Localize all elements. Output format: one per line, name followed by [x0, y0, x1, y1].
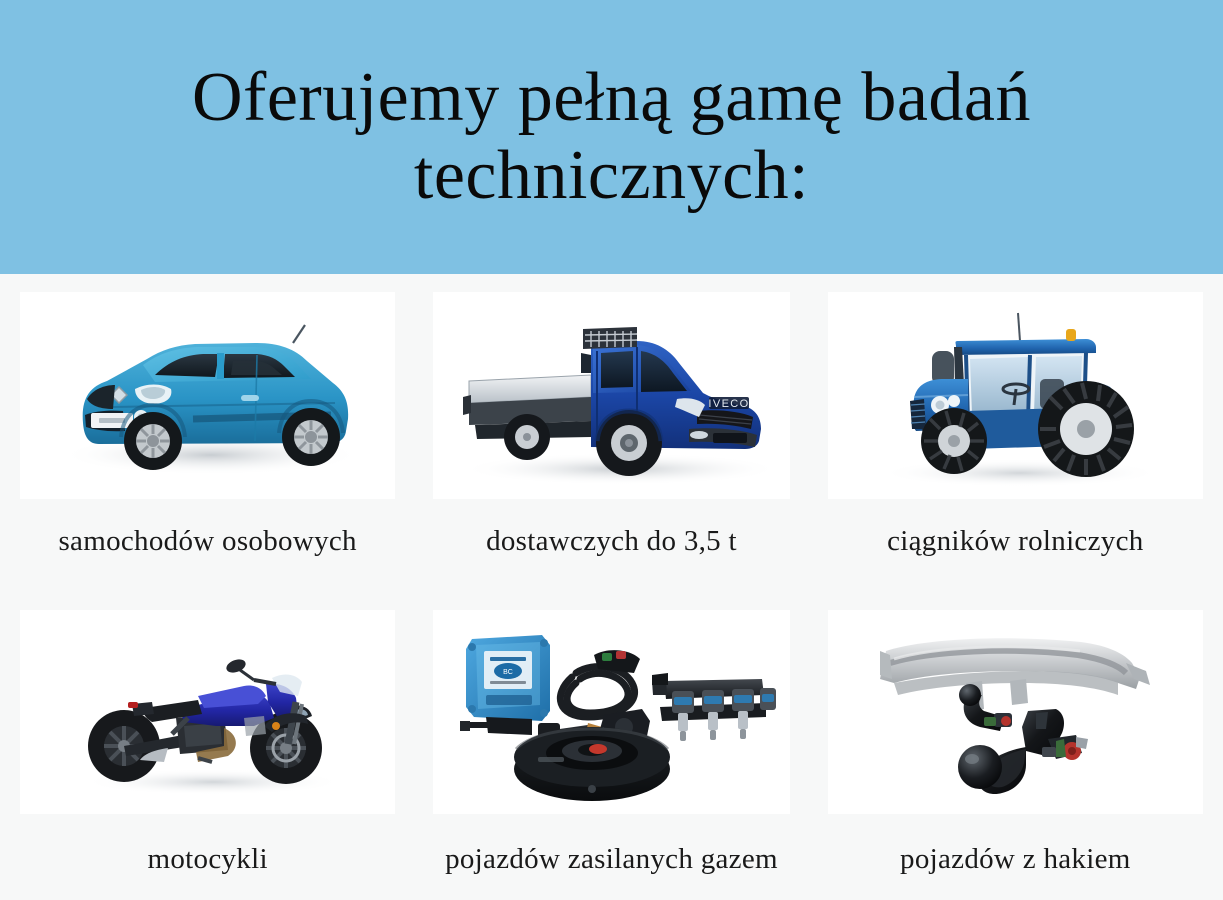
category-item-lpg-vehicles[interactable]: BC — [414, 587, 808, 900]
category-item-delivery-vans[interactable]: IVECO — [414, 274, 808, 587]
category-item-tractors[interactable]: ciągników rolniczych — [809, 274, 1203, 587]
page-title: Oferujemy pełną gamę badań technicznych: — [152, 59, 1071, 216]
category-label: dostawczych do 3,5 t — [486, 526, 737, 558]
lpg-installation-kit-icon: BC — [446, 617, 776, 807]
header-band: Oferujemy pełną gamę badań technicznych: — [0, 0, 1223, 274]
category-grid: samochodów osobowych — [0, 274, 1223, 900]
blue-motorcycle-icon — [48, 622, 368, 802]
category-item-tow-hitch[interactable]: pojazdów z hakiem — [809, 587, 1203, 900]
blue-farm-tractor-icon — [850, 301, 1180, 491]
category-label: pojazdów z hakiem — [900, 844, 1131, 876]
category-label: motocykli — [148, 844, 268, 876]
category-label: samochodów osobowych — [58, 526, 356, 558]
blue-hatchback-car-icon — [43, 303, 373, 488]
delivery-van-photo-card: IVECO — [433, 292, 789, 499]
tractor-photo-card — [828, 292, 1203, 499]
category-label: pojazdów zasilanych gazem — [445, 844, 778, 876]
tow-hitch-photo-card — [828, 610, 1203, 814]
passenger-car-photo-card — [20, 292, 395, 499]
blue-flatbed-van-icon: IVECO — [441, 301, 781, 491]
lpg-kit-photo-card: BC — [433, 610, 789, 814]
svg-text:IVECO: IVECO — [709, 398, 750, 410]
category-item-passenger-cars[interactable]: samochodów osobowych — [20, 274, 414, 587]
svg-text:BC: BC — [504, 669, 514, 676]
motorcycle-photo-card — [20, 610, 395, 814]
category-label: ciągników rolniczych — [887, 526, 1143, 558]
tow-hitch-icon — [850, 617, 1180, 807]
category-item-motorcycles[interactable]: motocykli — [20, 587, 414, 900]
